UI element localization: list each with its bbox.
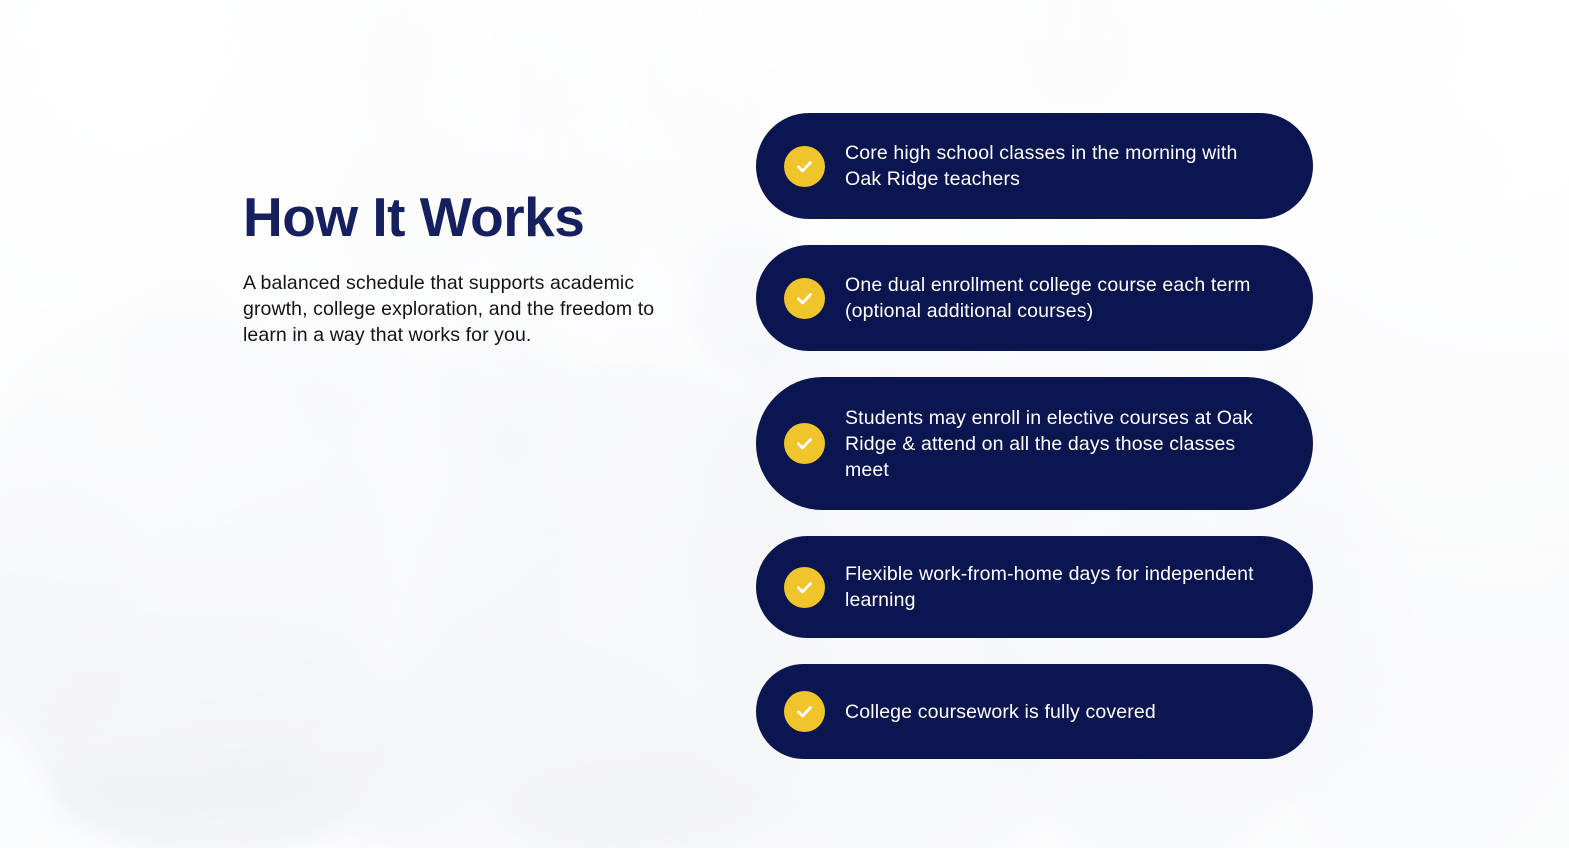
feature-card-text: Flexible work-from-home days for indepen… [845,561,1279,613]
section-copy: How It Works A balanced schedule that su… [243,186,693,348]
page-title: How It Works [243,186,693,248]
feature-card-5[interactable]: College coursework is fully covered [756,664,1313,759]
feature-card-1[interactable]: Core high school classes in the morning … [756,113,1313,219]
check-circle-icon [784,146,825,187]
feature-card-list: Core high school classes in the morning … [756,113,1313,785]
feature-card-text: College coursework is fully covered [845,699,1156,725]
check-circle-icon [784,423,825,464]
how-it-works-section: How It Works A balanced schedule that su… [0,0,1569,848]
feature-card-text: Students may enroll in elective courses … [845,405,1279,483]
feature-card-4[interactable]: Flexible work-from-home days for indepen… [756,536,1313,638]
feature-card-2[interactable]: One dual enrollment college course each … [756,245,1313,351]
section-description: A balanced schedule that supports academ… [243,270,675,348]
check-circle-icon [784,691,825,732]
feature-card-text: Core high school classes in the morning … [845,140,1279,192]
check-circle-icon [784,278,825,319]
check-circle-icon [784,567,825,608]
feature-card-3[interactable]: Students may enroll in elective courses … [756,377,1313,510]
feature-card-text: One dual enrollment college course each … [845,272,1279,324]
